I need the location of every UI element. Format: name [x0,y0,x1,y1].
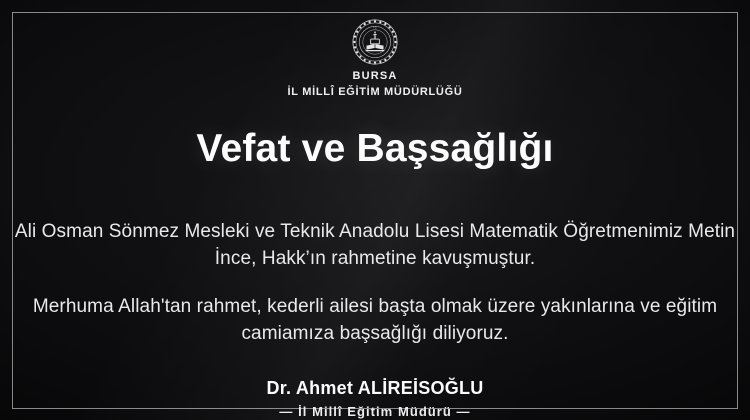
signatory-name: Dr. Ahmet ALİREİSOĞLU [267,379,484,399]
announcement-paragraph-1: Ali Osman Sönmez Mesleki ve Teknik Anado… [0,219,750,273]
signatory-title: — İl Millî Eğitim Müdürü — [267,405,484,419]
turkish-ministry-of-education-seal-icon: T.C. [352,19,398,65]
signature-block: Dr. Ahmet ALİREİSOĞLU — İl Millî Eğitim … [267,379,484,419]
organization-directorate: İL MİLLÎ EĞİTİM MÜDÜRLÜĞÜ [288,87,463,98]
condolence-poster: T.C. BURSA İL MİLLÎ EĞİTİM MÜDÜRLÜĞÜ Vef… [0,0,750,420]
announcement-paragraph-2: Merhuma Allah'tan rahmet, kederli ailesi… [0,294,750,348]
poster-content: T.C. BURSA İL MİLLÎ EĞİTİM MÜDÜRLÜĞÜ Vef… [0,0,750,420]
organization-city: BURSA [353,71,398,82]
poster-headline: Vefat ve Başsağlığı [196,129,553,168]
masthead: T.C. BURSA İL MİLLÎ EĞİTİM MÜDÜRLÜĞÜ [288,19,463,98]
svg-text:T.C.: T.C. [373,26,378,29]
announcement-body: Ali Osman Sönmez Mesleki ve Teknik Anado… [0,219,750,348]
